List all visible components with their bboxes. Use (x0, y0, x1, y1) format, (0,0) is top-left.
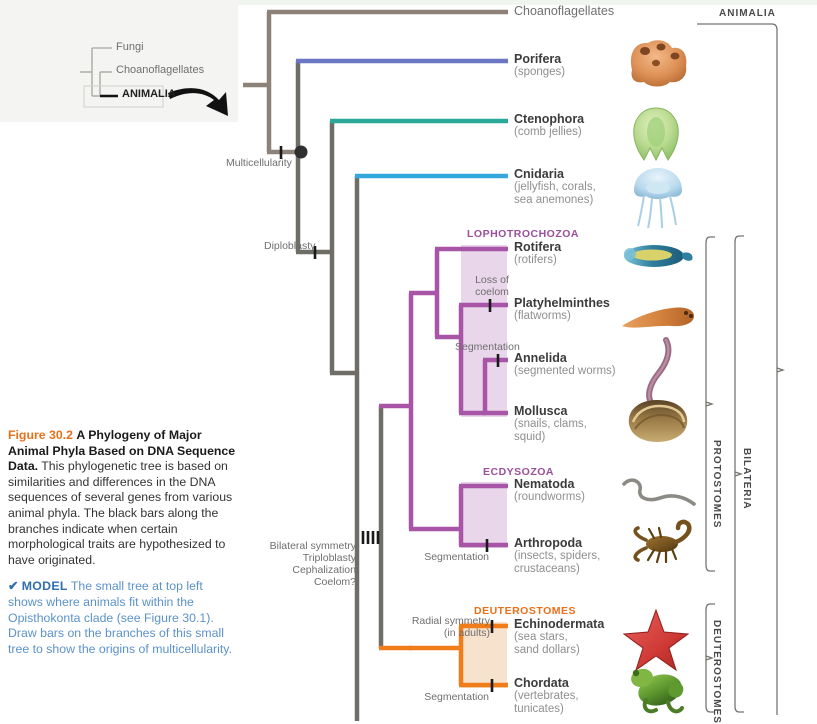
taxon-arthropoda: Arthropoda (insects, spiders, crustacean… (514, 537, 600, 576)
taxon-echinodermata: Echinodermata (sea stars, sand dollars) (514, 618, 604, 657)
taxon-label-chordata: Chordata (514, 677, 579, 690)
taxon-common-echinodermata: (sea stars, sand dollars) (514, 631, 604, 657)
trait-label-segmentation-arthropoda: Segmentation (385, 551, 489, 563)
taxon-common-rotifera: (rotifers) (514, 254, 561, 267)
taxon-label-ctenophora: Ctenophora (514, 113, 584, 126)
organism-flatworm (622, 307, 694, 327)
taxon-chordata: Chordata (vertebrates, tunicates) (514, 677, 579, 716)
taxon-label-nematoda: Nematoda (514, 478, 585, 491)
organism-scorpion (635, 522, 689, 562)
inset-label-choanoflagellates: Choanoflagellates (116, 64, 204, 76)
organism-frog (629, 666, 685, 711)
clade-label-ecdysozoa: ECDYSOZOA (483, 466, 554, 478)
trait-label-triploblasty: Triploblasty (236, 552, 356, 564)
taxon-common-nematoda: (roundworms) (514, 491, 585, 504)
model-label: MODEL (22, 579, 68, 593)
trait-label-diploblasty: Diploblasty (264, 240, 315, 252)
taxon-label-cnidaria: Cnidaria (514, 168, 596, 181)
taxon-label-echinodermata: Echinodermata (514, 618, 604, 631)
bracket-label-deuterostomes: DEUTEROSTOMES (711, 620, 722, 724)
taxon-label-arthropoda: Arthropoda (514, 537, 600, 550)
taxon-mollusca: Mollusca (snails, clams, squid) (514, 405, 587, 444)
check-icon: ✔ (8, 579, 18, 593)
organism-sea-star (624, 610, 688, 670)
taxon-common-chordata: (vertebrates, tunicates) (514, 690, 579, 716)
trait-label-coelom: Coelom? (236, 576, 356, 588)
taxon-common-mollusca: (snails, clams, squid) (514, 418, 587, 444)
taxon-common-cnidaria: (jellyfish, corals, sea anemones) (514, 181, 596, 207)
taxon-porifera: Porifera (sponges) (514, 53, 565, 79)
organism-earthworm (649, 340, 668, 404)
trait-label-radial-symmetry: Radial symmetry (in adults) (370, 615, 490, 639)
taxon-ctenophora: Ctenophora (comb jellies) (514, 113, 584, 139)
trait-label-segmentation-annelida: Segmentation (455, 341, 520, 353)
caption-body: This phylogenetic tree is based on simil… (8, 459, 232, 567)
organism-rotifer (624, 245, 693, 267)
inset-label-fungi: Fungi (116, 41, 144, 53)
trait-label-segmentation-chordata: Segmentation (385, 691, 489, 703)
bracket-label-animalia: ANIMALIA (719, 8, 776, 19)
taxon-common-porifera: (sponges) (514, 66, 565, 79)
taxon-label-annelida: Annelida (514, 352, 616, 365)
model-prompt: ✔ MODEL The small tree at top left shows… (8, 579, 236, 657)
organism-comb-jelly (634, 108, 679, 160)
organism-jellyfish (634, 168, 682, 228)
clade-label-lophotrochozoa: LOPHOTROCHOZOA (467, 228, 579, 240)
inset-label-animalia: ANIMALIA (122, 88, 176, 100)
bracket-label-bilateria: BILATERIA (741, 448, 752, 510)
taxon-nematoda: Nematoda (roundworms) (514, 478, 585, 504)
organism-sponge (631, 40, 686, 86)
organism-clam (629, 400, 687, 442)
figure-canvas: Fungi Choanoflagellates ANIMALIA Choanof… (0, 0, 817, 721)
taxon-label-mollusca: Mollusca (514, 405, 587, 418)
taxon-label-choanoflagellates: Choanoflagellates (514, 4, 614, 18)
taxon-label-porifera: Porifera (514, 53, 565, 66)
taxon-common-ctenophora: (comb jellies) (514, 126, 584, 139)
taxon-annelida: Annelida (segmented worms) (514, 352, 616, 378)
taxon-common-platyhelminthes: (flatworms) (514, 310, 610, 323)
taxon-common-arthropoda: (insects, spiders, crustaceans) (514, 550, 600, 576)
caption-figure-number: Figure 30.2 (8, 428, 73, 442)
taxon-rotifera: Rotifera (rotifers) (514, 241, 561, 267)
trait-label-bilateral-symmetry: Bilateral symmetry (236, 540, 356, 552)
figure-caption: Figure 30.2 A Phylogeny of Major Animal … (8, 428, 236, 657)
taxon-label-rotifera: Rotifera (514, 241, 561, 254)
taxon-platyhelminthes: Platyhelminthes (flatworms) (514, 297, 610, 323)
trait-label-cephalization: Cephalization (236, 564, 356, 576)
taxon-cnidaria: Cnidaria (jellyfish, corals, sea anemone… (514, 168, 596, 207)
trait-label-multicellularity: Multicellularity (226, 157, 292, 169)
taxon-common-annelida: (segmented worms) (514, 365, 616, 378)
bracket-label-protostomes: PROTOSTOMES (711, 440, 722, 528)
taxon-label-platyhelminthes: Platyhelminthes (514, 297, 610, 310)
trait-label-loss-of-coelom: Loss of coelom (459, 274, 525, 298)
organism-roundworm (624, 480, 694, 504)
